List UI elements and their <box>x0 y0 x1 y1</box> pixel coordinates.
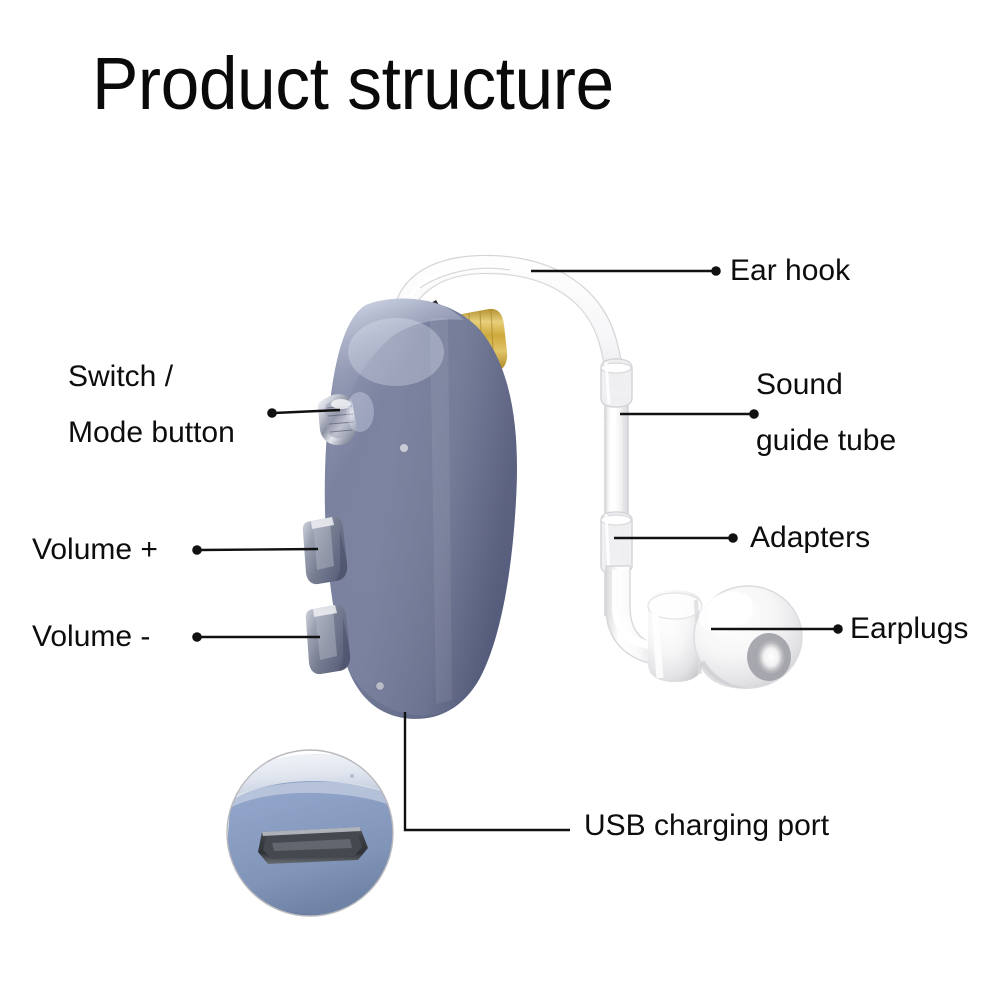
callout-label-adapters: Adapters <box>750 523 870 553</box>
earplug-part <box>648 584 802 689</box>
hearing-aid-body <box>314 296 524 742</box>
leader-volume-up <box>199 549 318 550</box>
dot-volume-down <box>192 632 202 642</box>
dot-switch <box>267 408 277 418</box>
dot-volume-up <box>192 545 202 555</box>
callout-label-switch-line-2: Mode button <box>68 418 235 448</box>
dot-adapters <box>728 533 738 543</box>
usb-port-inset <box>222 748 406 924</box>
product-illustration <box>0 0 1000 1000</box>
callout-label-ear-hook: Ear hook <box>730 256 850 286</box>
leader-usb-charging-port <box>405 712 570 830</box>
leader-dots <box>192 266 843 642</box>
callout-label-volume-up: Volume + <box>32 535 158 565</box>
callout-label-sound-line-2: guide tube <box>756 426 896 456</box>
callout-label-switch-mode-button: Switch / Mode button <box>68 362 235 448</box>
ear-hook-part <box>383 256 623 418</box>
volume-down-button-part <box>306 605 350 674</box>
microphone-dot <box>400 444 409 453</box>
product-structure-diagram: Product structure <box>0 0 1000 1000</box>
callout-label-sound-guide-tube: Sound guide tube <box>756 370 896 456</box>
page-title: Product structure <box>92 47 614 121</box>
callout-label-switch-line-1: Switch / <box>68 362 235 392</box>
switch-mode-button-part <box>318 392 374 445</box>
sound-guide-tube-part <box>601 359 664 666</box>
callout-label-sound-line-1: Sound <box>756 370 896 400</box>
gold-connector-part <box>428 300 507 379</box>
callout-label-usb-charging-port: USB charging port <box>584 811 829 841</box>
adapter-collar-lower <box>601 512 632 574</box>
leader-lines <box>199 271 836 830</box>
dot-ear-hook <box>711 266 721 276</box>
leader-switch <box>274 410 340 413</box>
adapter-collar-upper <box>601 359 632 407</box>
callout-label-earplugs: Earplugs <box>850 614 968 644</box>
led-indicator-dot <box>376 682 384 690</box>
volume-up-button-part <box>303 517 347 584</box>
dot-earplugs <box>833 624 843 634</box>
callout-label-volume-down: Volume - <box>32 622 150 652</box>
